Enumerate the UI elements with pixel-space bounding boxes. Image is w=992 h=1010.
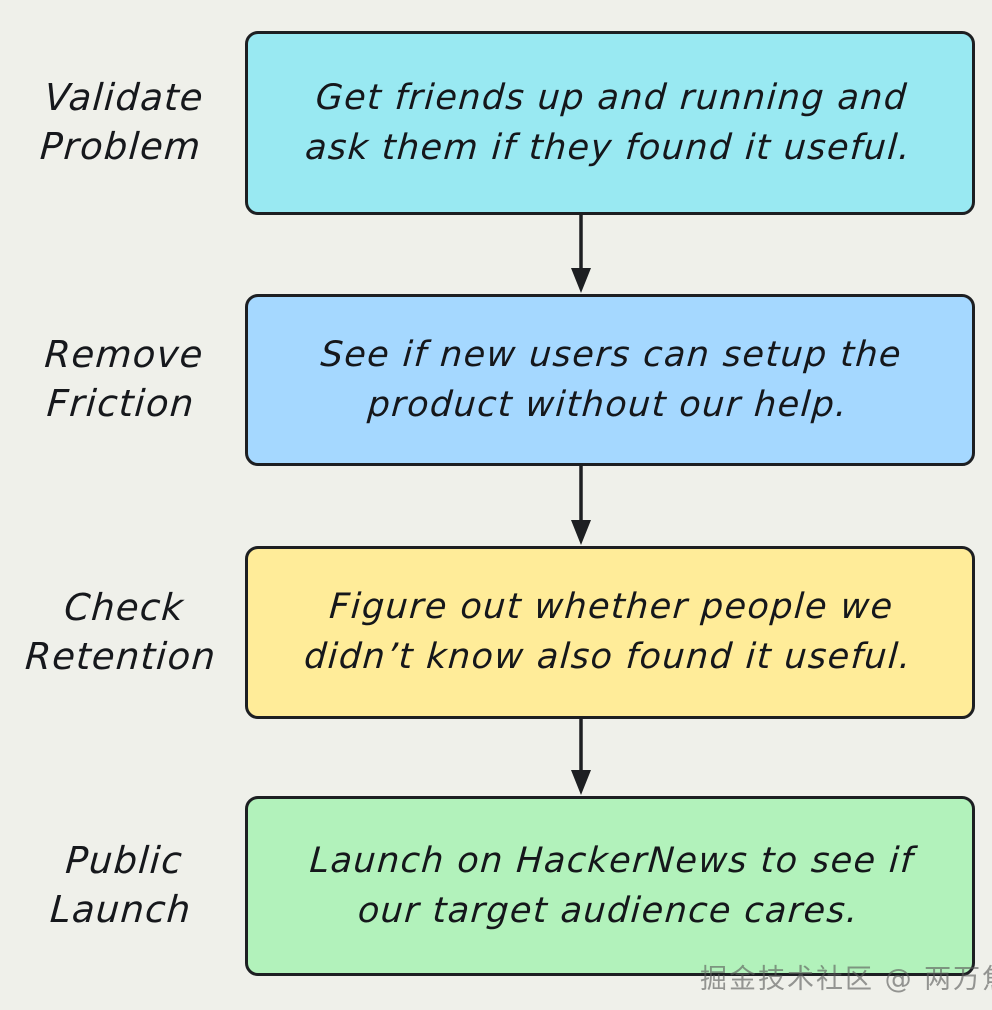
- arrow-connector-2: [567, 466, 595, 546]
- arrow-down-icon: [567, 719, 595, 796]
- stage-label-public-launch: Public Launch: [0, 837, 248, 935]
- stage-label-remove-friction: Remove Friction: [0, 331, 248, 429]
- stage-box-check-retention[interactable]: Figure out whether people we didn’t know…: [245, 546, 975, 719]
- arrow-connector-3: [567, 719, 595, 796]
- stage-text-validate-problem: Get friends up and running and ask them …: [304, 73, 917, 174]
- stage-box-remove-friction[interactable]: See if new users can setup the product w…: [245, 294, 975, 466]
- flow-stage-validate-problem: Validate Problem Get friends up and runn…: [0, 31, 992, 215]
- stage-label-validate-problem: Validate Problem: [0, 74, 248, 172]
- stage-label-check-retention: Check Retention: [0, 584, 248, 682]
- flow-stage-remove-friction: Remove Friction See if new users can set…: [0, 294, 992, 466]
- flowchart-diagram: Validate Problem Get friends up and runn…: [0, 0, 992, 1010]
- stage-box-validate-problem[interactable]: Get friends up and running and ask them …: [245, 31, 975, 215]
- stage-box-public-launch[interactable]: Launch on HackerNews to see if our targe…: [245, 796, 975, 976]
- arrow-connector-1: [567, 215, 595, 294]
- flow-stage-public-launch: Public Launch Launch on HackerNews to se…: [0, 796, 992, 976]
- flow-stage-check-retention: Check Retention Figure out whether peopl…: [0, 546, 992, 719]
- stage-text-public-launch: Launch on HackerNews to see if our targe…: [304, 836, 915, 937]
- arrow-down-icon: [567, 466, 595, 546]
- arrow-down-icon: [567, 215, 595, 294]
- stage-text-check-retention: Figure out whether people we didn’t know…: [303, 582, 917, 683]
- stage-text-remove-friction: See if new users can setup the product w…: [316, 330, 904, 431]
